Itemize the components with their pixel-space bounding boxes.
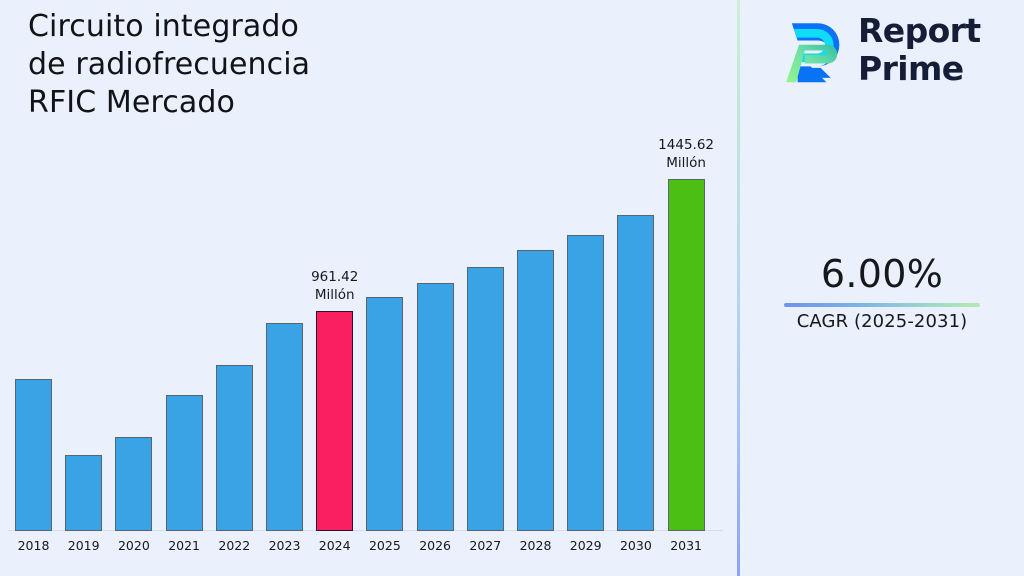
x-tick-2030: 2030	[617, 538, 654, 553]
bar-rect-2025[interactable]	[366, 297, 403, 531]
x-tick-2028: 2028	[517, 538, 554, 553]
x-tick-2023: 2023	[266, 538, 303, 553]
bar-2031[interactable]: 1445.62 Millón	[668, 130, 705, 531]
bar-rect-2026[interactable]	[417, 283, 454, 531]
x-tick-2024: 2024	[316, 538, 353, 553]
cagr-block: 6.00% CAGR (2025-2031)	[750, 252, 1014, 332]
bar-rect-2028[interactable]	[517, 250, 554, 531]
x-tick-2020: 2020	[115, 538, 152, 553]
bar-rect-2020[interactable]	[115, 437, 152, 531]
bar-rect-2019[interactable]	[65, 455, 102, 531]
x-tick-2019: 2019	[65, 538, 102, 553]
bar-2020[interactable]	[115, 130, 152, 531]
brand-logo: Report Prime	[776, 12, 1008, 94]
x-tick-2018: 2018	[15, 538, 52, 553]
bar-2018[interactable]	[15, 130, 52, 531]
report-prime-logo-mark	[776, 16, 848, 88]
x-tick-2022: 2022	[216, 538, 253, 553]
x-tick-2029: 2029	[567, 538, 604, 553]
bar-2029[interactable]	[567, 130, 604, 531]
bar-2026[interactable]	[417, 130, 454, 531]
x-tick-2027: 2027	[467, 538, 504, 553]
x-tick-2021: 2021	[166, 538, 203, 553]
bar-rect-2023[interactable]	[266, 323, 303, 531]
x-tick-2026: 2026	[417, 538, 454, 553]
bar-rect-2027[interactable]	[467, 267, 504, 531]
bar-2022[interactable]	[216, 130, 253, 531]
bar-value-label-2024: 961.42 Millón	[311, 269, 358, 305]
bar-2019[interactable]	[65, 130, 102, 531]
bar-rect-2031[interactable]	[668, 179, 705, 531]
right-panel: Report Prime 6.00% CAGR (2025-2031)	[740, 0, 1024, 576]
bar-chart: 961.42 Millón1445.62 Millón 201820192020…	[0, 0, 737, 576]
bar-rect-2024[interactable]	[316, 311, 353, 531]
x-tick-2025: 2025	[366, 538, 403, 553]
chart-x-axis: 2018201920202021202220232024202520262027…	[8, 538, 723, 564]
bar-2027[interactable]	[467, 130, 504, 531]
bar-rect-2018[interactable]	[15, 379, 52, 531]
infographic-page: Circuito integrado de radiofrecuencia RF…	[0, 0, 1024, 576]
bar-rect-2030[interactable]	[617, 215, 654, 531]
x-tick-2031: 2031	[668, 538, 705, 553]
bar-2021[interactable]	[166, 130, 203, 531]
bar-2030[interactable]	[617, 130, 654, 531]
bar-rect-2022[interactable]	[216, 365, 253, 531]
cagr-divider	[784, 303, 980, 307]
bar-2024[interactable]: 961.42 Millón	[316, 130, 353, 531]
bar-2028[interactable]	[517, 130, 554, 531]
brand-name: Report Prime	[858, 12, 981, 87]
cagr-value: 6.00%	[750, 252, 1014, 296]
chart-bars: 961.42 Millón1445.62 Millón	[8, 130, 723, 531]
cagr-caption: CAGR (2025-2031)	[750, 311, 1014, 332]
bar-2025[interactable]	[366, 130, 403, 531]
bar-rect-2029[interactable]	[567, 235, 604, 531]
bar-rect-2021[interactable]	[166, 395, 203, 531]
bar-value-label-2031: 1445.62 Millón	[658, 137, 714, 173]
bar-2023[interactable]	[266, 130, 303, 531]
